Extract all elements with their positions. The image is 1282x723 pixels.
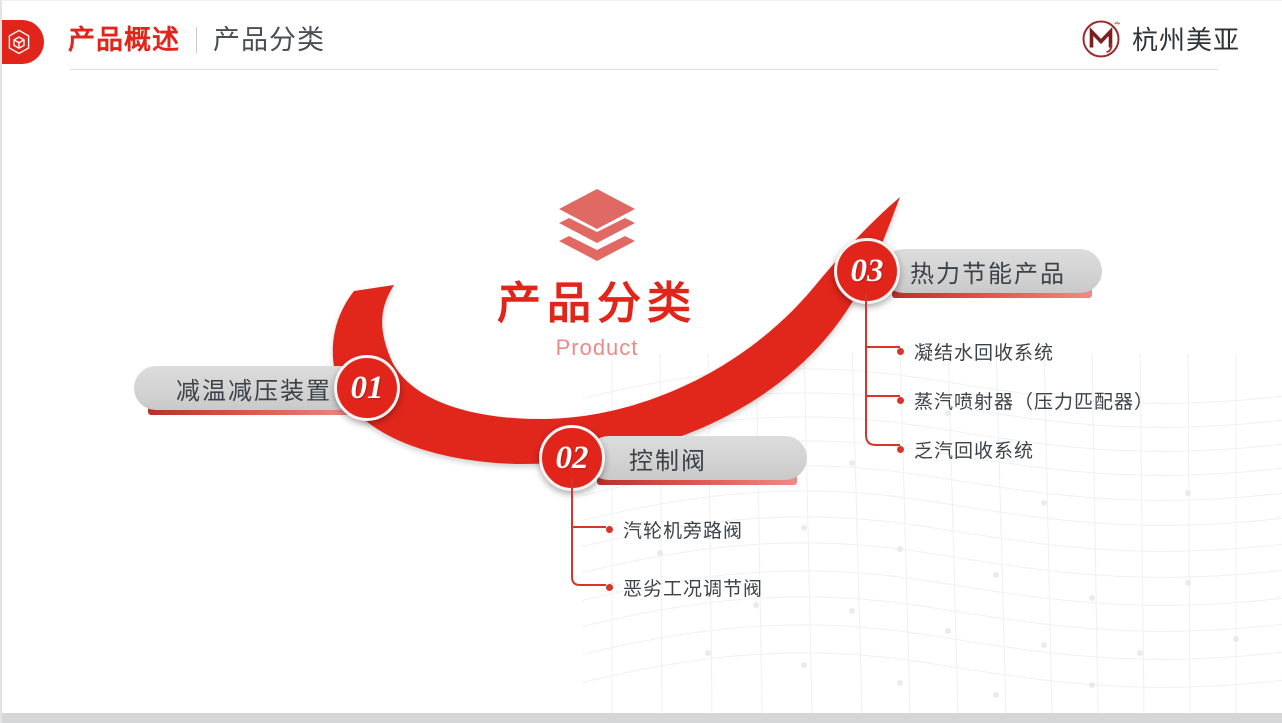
header-title-divider [196, 27, 197, 53]
node-02-number: 02 [556, 440, 589, 477]
node-01[interactable]: 减温减压装置 01 [134, 366, 366, 410]
node-02-sub-item-2-label: 恶劣工况调节阀 [623, 574, 763, 601]
header-breadcrumb: 产品概述 产品分类 [68, 20, 325, 60]
brand-name: 杭州美亚 [1132, 20, 1240, 57]
node-02-sub-item-2[interactable]: 恶劣工况调节阀 [606, 574, 763, 601]
centre-subtitle: Product [472, 335, 722, 361]
node-02-sub-item-1[interactable]: 汽轮机旁路阀 [606, 516, 743, 543]
node-03-connector [852, 293, 918, 459]
node-02-pill[interactable]: 控制阀 [587, 436, 807, 480]
header-rule-divider [70, 69, 1218, 70]
bullet-dot-icon [606, 584, 613, 591]
node-01-pill[interactable]: 减温减压装置 [134, 366, 366, 410]
header-title-main: 产品概述 [68, 20, 180, 60]
bottom-band [2, 713, 1282, 723]
centre-title-block: 产品分类 Product [472, 187, 722, 361]
node-01-badge[interactable]: 01 [334, 355, 400, 421]
red-swoosh-arc [2, 1, 1282, 723]
node-03-pill[interactable]: 热力节能产品 [882, 249, 1102, 293]
slide-header: 产品概述 产品分类 杭州美亚 [2, 1, 1282, 73]
node-03-number: 03 [851, 253, 884, 290]
bullet-dot-icon [897, 348, 904, 355]
node-03-sub-item-2[interactable]: 蒸汽喷射器（压力匹配器） [897, 387, 1154, 414]
node-02-sub-item-1-label: 汽轮机旁路阀 [623, 516, 743, 543]
node-02-badge[interactable]: 02 [539, 425, 605, 491]
centre-title: 产品分类 [472, 279, 722, 329]
header-title-sub: 产品分类 [213, 20, 325, 60]
node-03-sub-item-1[interactable]: 凝结水回收系统 [897, 338, 1054, 365]
slide-canvas: 产品概述 产品分类 杭州美亚 [0, 0, 1282, 723]
circle-m-logo-icon [1079, 15, 1125, 61]
node-03-sub-item-3[interactable]: 乏汽回收系统 [897, 436, 1034, 463]
node-01-number: 01 [351, 370, 384, 407]
cube-hexagon-icon [0, 20, 44, 64]
bullet-dot-icon [897, 397, 904, 404]
node-03-label: 热力节能产品 [910, 254, 1066, 289]
bullet-dot-icon [606, 526, 613, 533]
node-01-label: 减温减压装置 [176, 371, 332, 406]
brand-lockup: 杭州美亚 [1079, 15, 1240, 61]
bullet-dot-icon [897, 446, 904, 453]
layer-stack-icon [555, 187, 639, 263]
node-02-label: 控制阀 [629, 441, 707, 476]
node-03[interactable]: 热力节能产品 03 [882, 249, 1102, 293]
node-03-sub-item-1-label: 凝结水回收系统 [914, 338, 1054, 365]
node-03-badge[interactable]: 03 [834, 238, 900, 304]
node-02[interactable]: 控制阀 02 [587, 436, 807, 480]
node-03-sub-item-2-label: 蒸汽喷射器（压力匹配器） [914, 387, 1154, 414]
node-03-sub-item-3-label: 乏汽回收系统 [914, 436, 1034, 463]
